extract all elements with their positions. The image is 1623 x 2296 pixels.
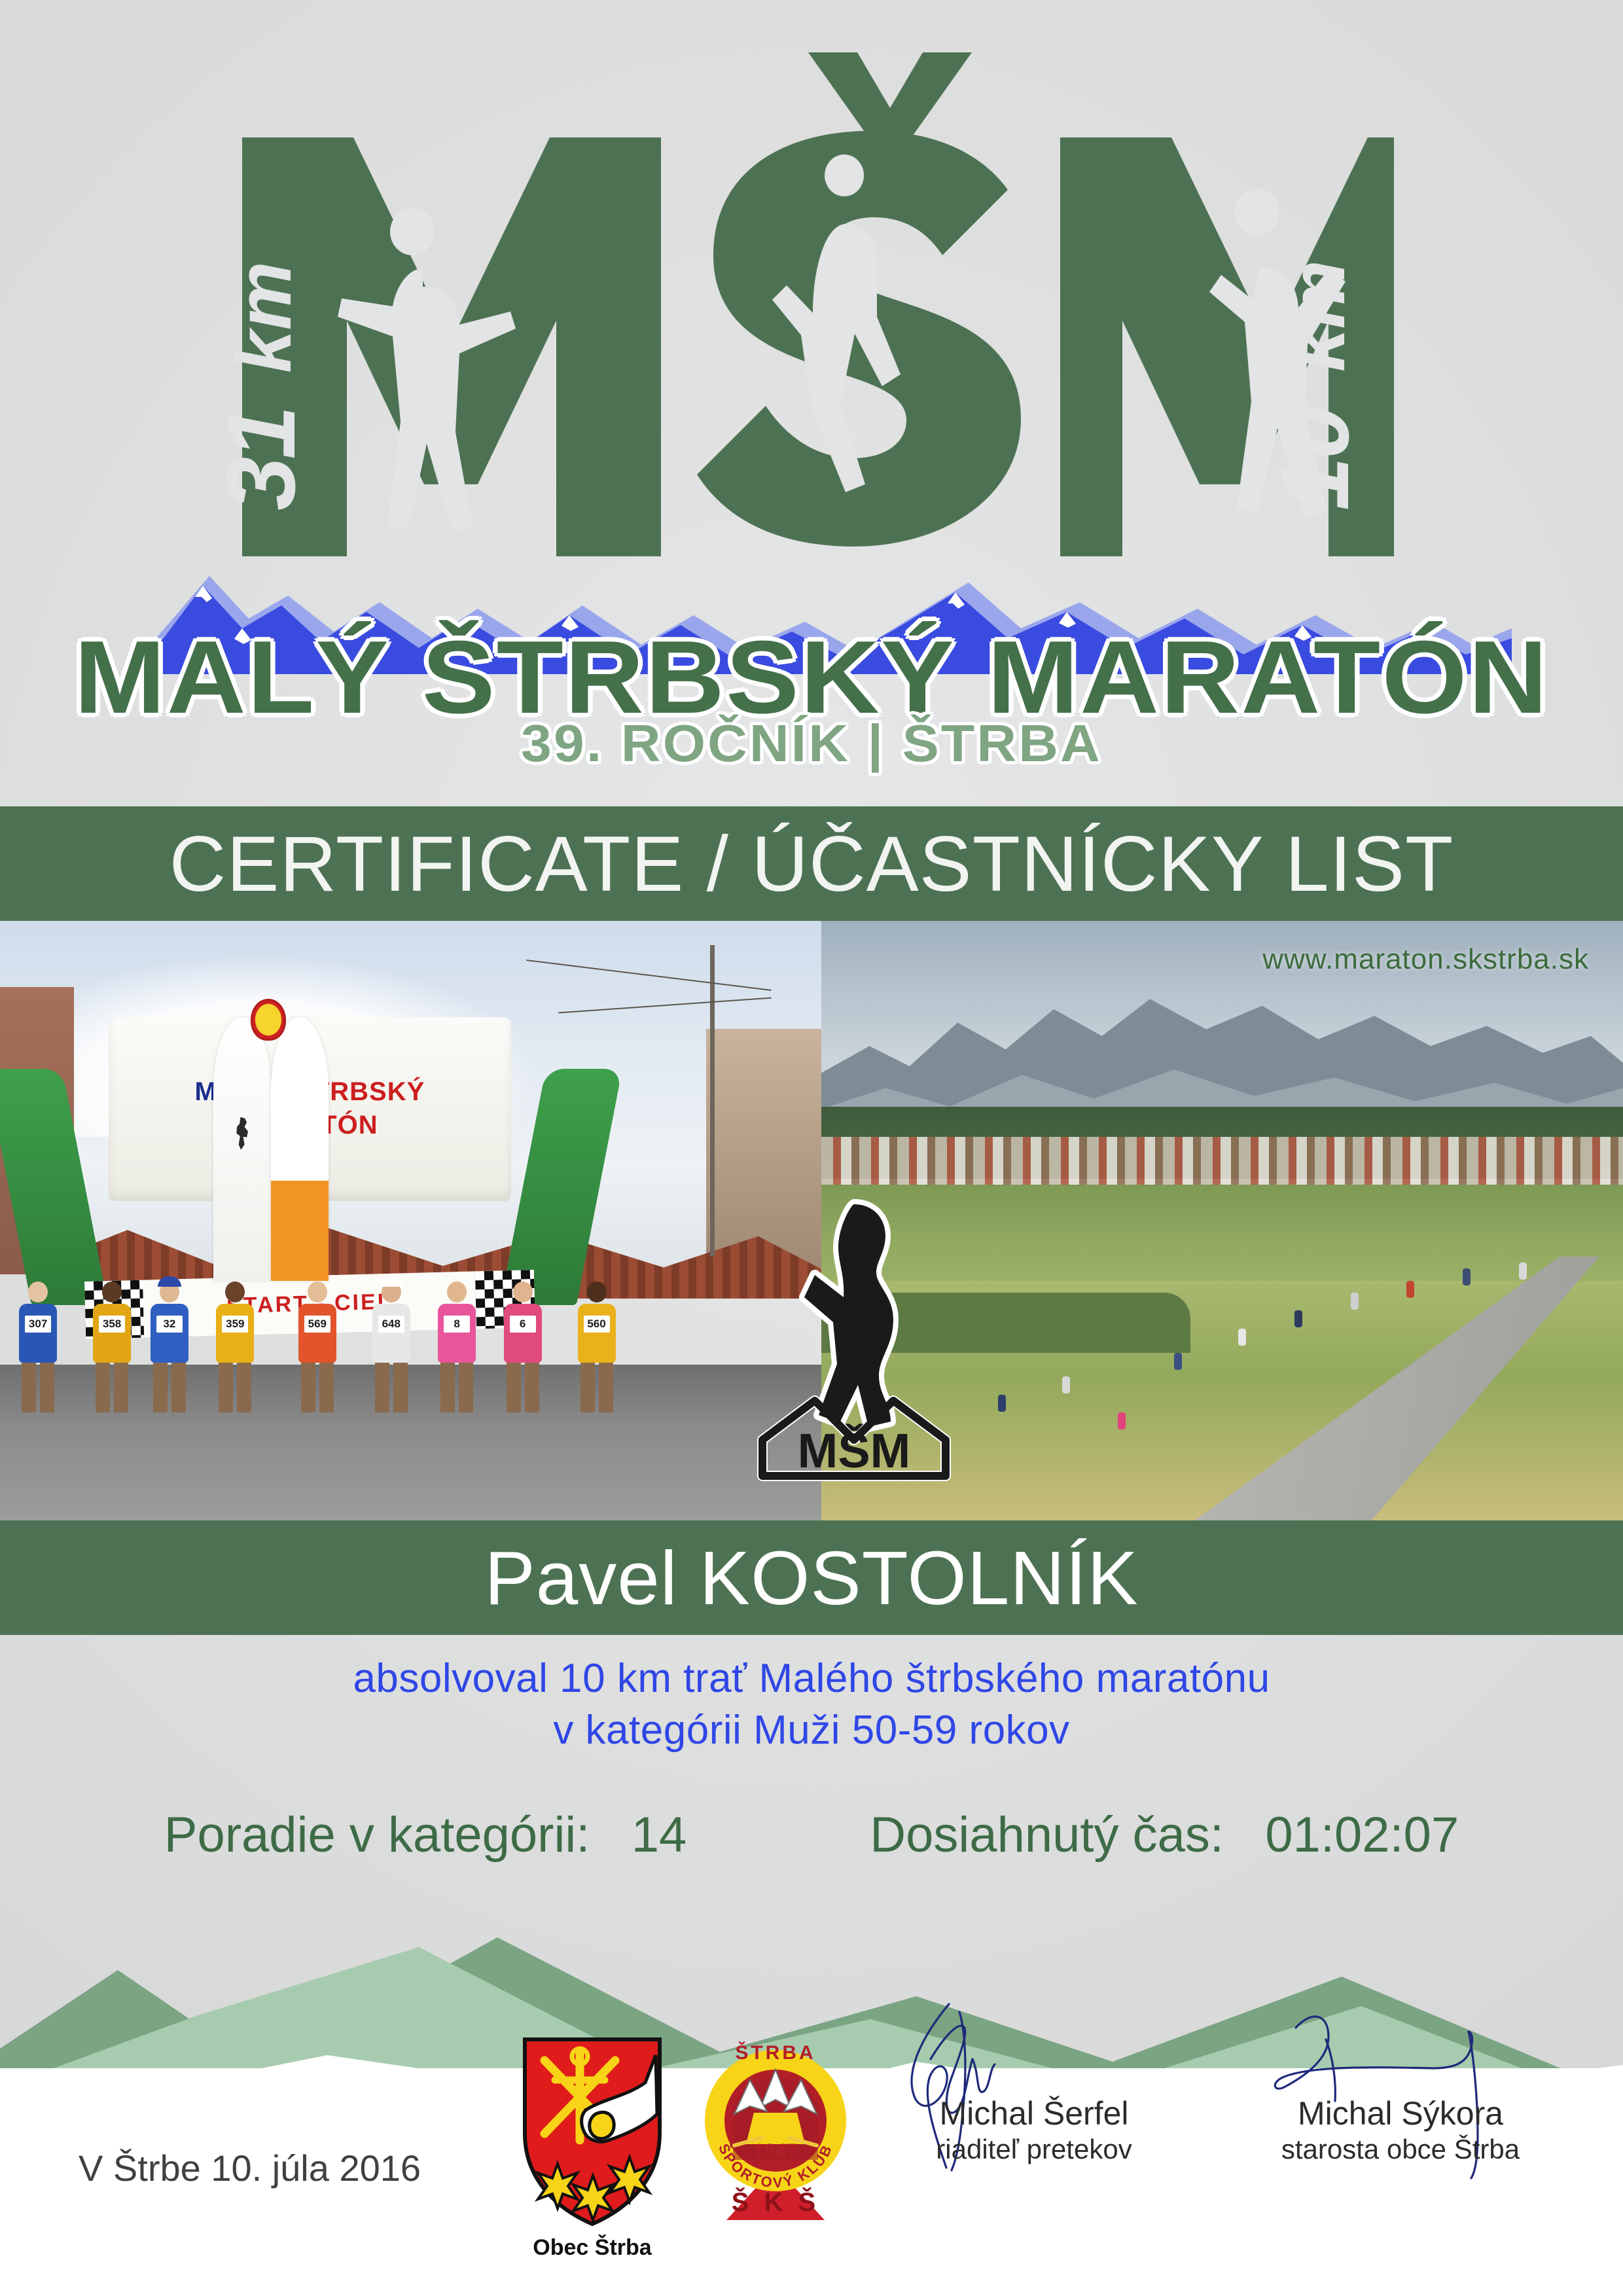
bib-number: 560 bbox=[584, 1316, 610, 1333]
bib-number: 359 bbox=[222, 1316, 248, 1333]
certificate-heading-bar: CERTIFICATE / ÚČASTNÍCKY LIST bbox=[0, 806, 1623, 921]
finish-time-label: Dosiahnutý čas: bbox=[870, 1807, 1224, 1863]
bib-number: 307 bbox=[25, 1316, 51, 1333]
participant-name: Pavel KOSTOLNÍK bbox=[484, 1534, 1138, 1622]
course-runner bbox=[1463, 1268, 1471, 1285]
sks-initials-text: Š K Š bbox=[732, 2187, 819, 2217]
svg-text:31: 31 bbox=[216, 408, 315, 511]
participant-name-bar: Pavel KOSTOLNÍK bbox=[0, 1520, 1623, 1635]
description-line-1: absolvoval 10 km trať Malého štrbského m… bbox=[0, 1653, 1623, 1704]
finish-time-value: 01:02:07 bbox=[1265, 1807, 1459, 1863]
result-row: Poradie v kategórii: 14 Dosiahnutý čas: … bbox=[0, 1806, 1623, 1863]
club-emblem-icon bbox=[251, 999, 286, 1041]
msm-wordmark-logo: 31 km 10 km bbox=[216, 39, 1414, 556]
svg-text:km: km bbox=[221, 261, 308, 373]
certificate-heading: CERTIFICATE / ÚČASTNÍCKY LIST bbox=[169, 819, 1454, 909]
msm-badge-text: MŠM bbox=[798, 1424, 911, 1478]
event-logo-block: 31 km 10 km bbox=[0, 0, 1623, 802]
course-runner bbox=[998, 1395, 1006, 1412]
runner: 307 bbox=[16, 1282, 60, 1412]
description-line-2: v kategórii Muži 50-59 rokov bbox=[0, 1704, 1623, 1756]
signature-block-mayor: Michal Sýkora starosta obce Štrba bbox=[1217, 2094, 1584, 2165]
event-website-url: www.maraton.skstrba.sk bbox=[1262, 943, 1589, 976]
course-runner bbox=[1118, 1412, 1126, 1429]
runner: 648 bbox=[370, 1282, 413, 1412]
runner: 359 bbox=[213, 1282, 257, 1412]
signatory-role: riaditeľ pretekov bbox=[851, 2134, 1217, 2165]
bib-number: 6 bbox=[510, 1316, 536, 1333]
course-runner bbox=[1519, 1263, 1527, 1280]
certificate-page: 31 km 10 km bbox=[0, 0, 1623, 2296]
event-subtitle: 39. ROČNÍK | ŠTRBA bbox=[0, 713, 1623, 774]
runner: 6 bbox=[501, 1282, 544, 1412]
course-runner bbox=[1294, 1310, 1302, 1327]
course-runner bbox=[1062, 1376, 1070, 1393]
bib-number: 648 bbox=[378, 1316, 404, 1333]
runner: 8 bbox=[435, 1282, 478, 1412]
course-runner bbox=[1238, 1329, 1246, 1346]
runner: 560 bbox=[575, 1282, 618, 1412]
runner: 569 bbox=[296, 1282, 339, 1412]
obec-strba-label: Obec Štrba bbox=[517, 2235, 668, 2261]
bib-number: 569 bbox=[304, 1316, 330, 1333]
bib-number: 358 bbox=[99, 1316, 125, 1333]
course-runner bbox=[1406, 1281, 1414, 1298]
runner: 358 bbox=[90, 1282, 134, 1412]
issue-date: V Štrbe 10. júla 2016 bbox=[79, 2147, 421, 2189]
sks-club-logo-icon: ŠTRBA 1947 ŠPORTOVÝ KLUB Š K Š bbox=[694, 2029, 857, 2225]
signature-block-race-director: Michal Šerfel riaditeľ pretekov bbox=[851, 2094, 1217, 2165]
category-rank: Poradie v kategórii: 14 bbox=[164, 1806, 687, 1863]
msm-runner-badge-overlay: MŠM bbox=[756, 1178, 952, 1486]
certificate-footer: V Štrbe 10. júla 2016 bbox=[0, 2068, 1623, 2296]
signatory-name: Michal Šerfel bbox=[851, 2094, 1217, 2132]
course-runner bbox=[1174, 1353, 1182, 1370]
finish-time: Dosiahnutý čas: 01:02:07 bbox=[870, 1806, 1459, 1863]
course-runner bbox=[1351, 1293, 1359, 1310]
category-rank-value: 14 bbox=[632, 1807, 687, 1863]
signatory-name: Michal Sýkora bbox=[1217, 2094, 1584, 2132]
bib-number: 8 bbox=[444, 1316, 470, 1333]
runner-crowd: 307 358 32 bbox=[0, 1137, 821, 1412]
obec-strba-coat-of-arms-icon bbox=[517, 2036, 668, 2245]
sks-year-text: 1947 bbox=[754, 2140, 798, 2162]
runner: 32 bbox=[148, 1282, 191, 1412]
certificate-description: absolvoval 10 km trať Malého štrbského m… bbox=[0, 1653, 1623, 1757]
category-rank-label: Poradie v kategórii: bbox=[164, 1807, 590, 1863]
sks-top-text: ŠTRBA bbox=[735, 2041, 815, 2064]
signatory-role: starosta obce Štrba bbox=[1217, 2134, 1584, 2165]
bib-number: 32 bbox=[156, 1316, 183, 1333]
race-start-photo: MALÝ ŠTRBSKÝ MARATÓN ŠTART - CIEĽ bbox=[0, 921, 821, 1520]
